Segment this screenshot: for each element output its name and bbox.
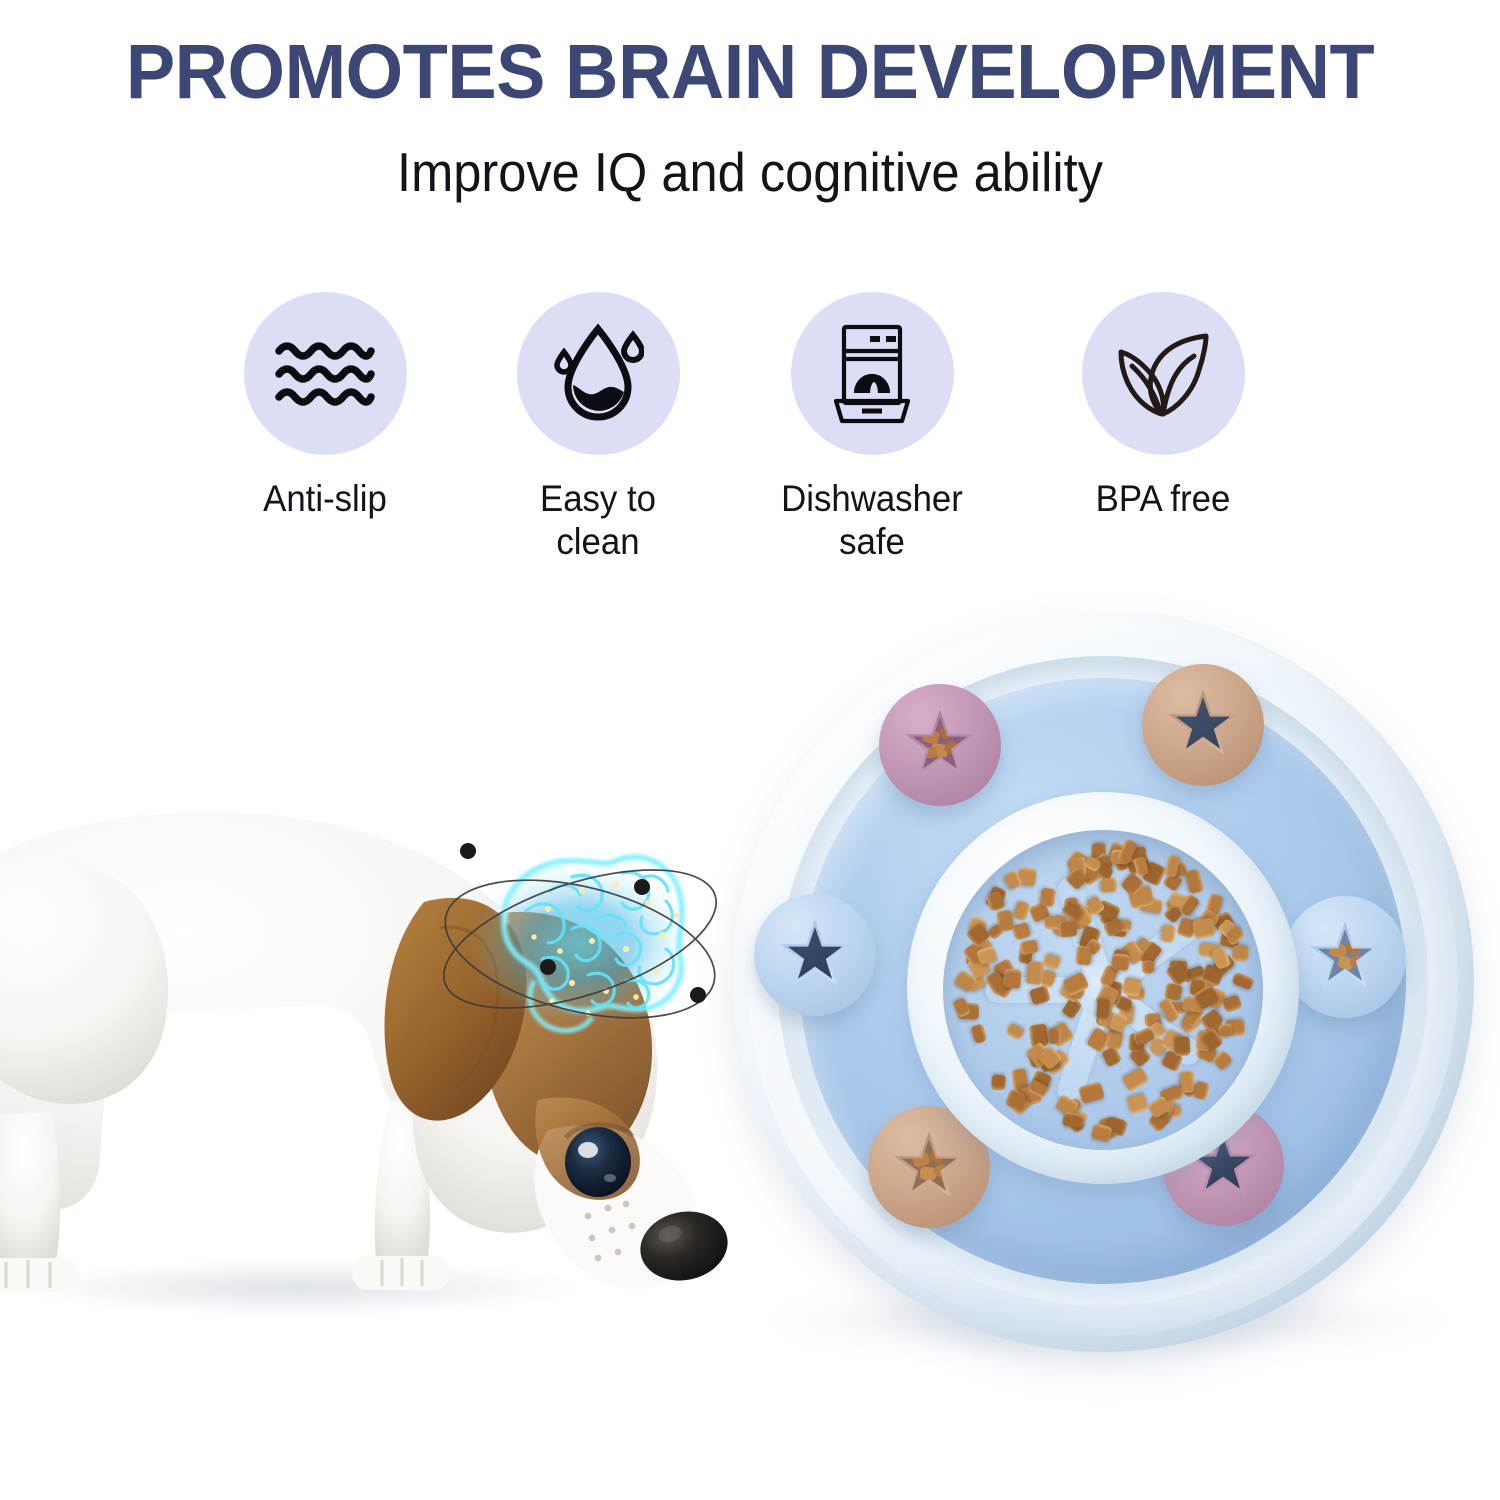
kibble-piece [1111, 953, 1129, 970]
feature-dishwasher-safe: Dishwasher safe [757, 292, 987, 564]
center-food-bowl [907, 792, 1299, 1184]
dishwasher-icon [826, 321, 918, 427]
kibble-piece [1075, 945, 1091, 965]
feature-list: Anti-slip Easy to clean [0, 292, 1500, 582]
puppy-shadow [0, 1258, 600, 1318]
product-slow-feeder-bowl: PET MARVEL [712, 596, 1500, 1386]
kibble-piece [1097, 997, 1114, 1019]
puppy-eye [565, 1127, 631, 1197]
puppy-rear-leg [0, 1112, 60, 1264]
feature-label: Easy to clean [490, 477, 706, 564]
kibble-piece [1011, 922, 1031, 941]
kibble-piece [1232, 971, 1255, 990]
kibble-piece [1006, 1022, 1026, 1040]
kibble-piece [1062, 1111, 1084, 1128]
kibble-piece [1019, 939, 1038, 955]
kibble-piece [1004, 968, 1023, 988]
kibble-piece [1173, 1037, 1190, 1056]
feature-anti-slip: Anti-slip [210, 292, 440, 520]
kibble-piece [1142, 960, 1154, 974]
center-bowl-well [943, 830, 1263, 1150]
infographic-page: PROMOTES BRAIN DEVELOPMENT Improve IQ an… [0, 0, 1500, 1500]
feature-label-line2: clean [556, 521, 639, 562]
kibble-piece [1126, 1093, 1149, 1115]
feature-label-line2: safe [839, 521, 905, 562]
wave-lines-icon [273, 335, 377, 413]
leaves-icon [1111, 328, 1215, 420]
feature-label: BPA free [1055, 477, 1271, 520]
kibble-piece [1013, 901, 1031, 922]
kibble-piece [1100, 878, 1117, 893]
kibble-piece [1192, 917, 1216, 939]
kibble-piece [970, 1024, 987, 1045]
feature-icon-circle [517, 292, 680, 455]
brain-overlay [430, 815, 730, 1095]
kibble-piece [1185, 868, 1204, 893]
feature-icon-circle [791, 292, 954, 455]
knob-top-right[interactable] [1142, 664, 1264, 786]
kibble-piece [991, 1074, 1006, 1090]
feature-label-line1: Easy to [540, 478, 656, 519]
kibble-piece [1122, 1067, 1150, 1092]
feature-icon-circle [244, 292, 407, 455]
feature-label: Dishwasher safe [764, 477, 980, 564]
kibble-piece [1042, 953, 1061, 971]
kibble-piece [1193, 1081, 1210, 1101]
knob-top-left[interactable] [879, 684, 1001, 806]
feature-easy-to-clean: Easy to clean [483, 292, 713, 564]
feature-icon-circle [1082, 292, 1245, 455]
feature-bpa-free: BPA free [1048, 292, 1278, 520]
knob-right[interactable] [1284, 896, 1406, 1018]
kibble-piece [1049, 1028, 1061, 1044]
kibble-piece [1122, 977, 1141, 997]
puppy-rear-paw [0, 1258, 79, 1292]
knob-left[interactable] [754, 894, 876, 1016]
page-title: PROMOTES BRAIN DEVELOPMENT [30, 34, 1470, 111]
page-subtitle: Improve IQ and cognitive ability [60, 144, 1440, 202]
kibble-piece [1057, 920, 1076, 938]
water-drop-icon [552, 321, 644, 427]
kibble-piece [1039, 888, 1055, 907]
feature-label-line1: Dishwasher [781, 478, 963, 519]
kibble-piece [1180, 1071, 1195, 1093]
kibble-piece [1231, 945, 1248, 962]
feature-label: Anti-slip [217, 477, 433, 520]
